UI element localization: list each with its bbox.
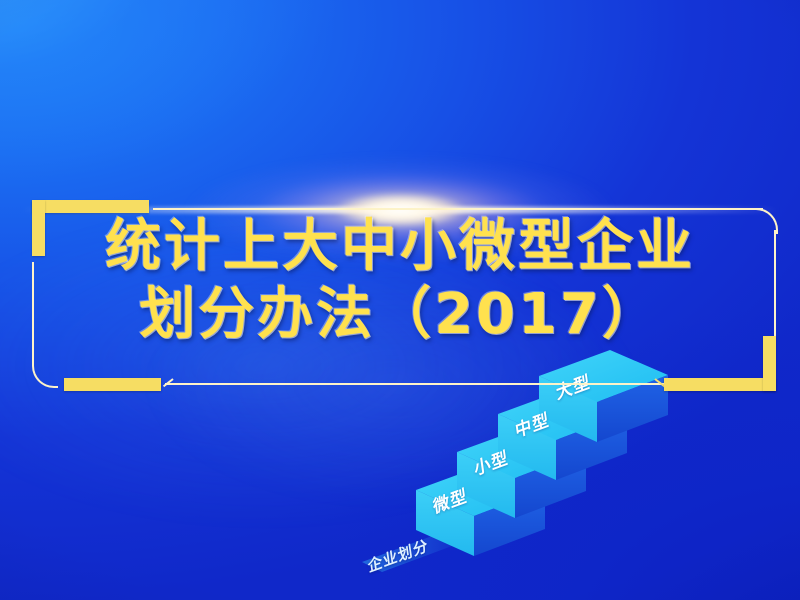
slide-canvas: 微型 小型 中型 大型 企业划分 统计上大中小微型企业 划分办法（2017） — [0, 0, 800, 600]
ground-plate — [362, 536, 452, 572]
staircase-graphic — [0, 0, 800, 600]
